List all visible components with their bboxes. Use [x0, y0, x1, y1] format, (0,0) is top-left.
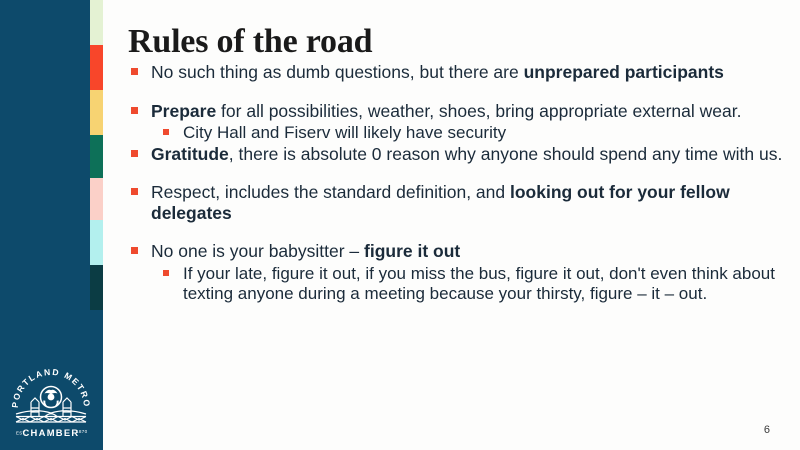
- bullet-text: Respect, includes the standard definitio…: [151, 182, 785, 223]
- bullet-plain: No such thing as dumb questions, but the…: [151, 62, 524, 82]
- color-strip-segment-orange-red: [90, 45, 103, 90]
- sub-bullet-item: City Hall and Fiserv will likely have se…: [125, 123, 785, 144]
- bullet-item: No such thing as dumb questions, but the…: [125, 62, 785, 83]
- bullet-square-icon: [163, 129, 169, 135]
- bullet-square-icon: [131, 107, 138, 114]
- color-strip-segment-yellow: [90, 90, 103, 135]
- slide-canvas: PORTLAND METRO: [0, 0, 800, 450]
- color-strip-segment-pink: [90, 178, 103, 220]
- color-strip-segment-dark-teal: [90, 265, 103, 310]
- bullet-text: No one is your babysitter – figure it ou…: [151, 241, 785, 262]
- logo-chamber-text: CHAMBER: [22, 427, 79, 438]
- sub-bullet-item: If your late, figure it out, if you miss…: [125, 264, 785, 305]
- page-number: 6: [764, 424, 770, 436]
- bullet-plain: for all possibilities, weather, shoes, b…: [216, 101, 741, 121]
- portland-metro-chamber-logo: PORTLAND METRO: [10, 350, 92, 442]
- bullet-item: Respect, includes the standard definitio…: [125, 182, 785, 223]
- page-title: Rules of the road: [128, 24, 372, 60]
- bullet-square-icon: [131, 68, 138, 75]
- bullet-item: No one is your babysitter – figure it ou…: [125, 241, 785, 262]
- bullet-text: Prepare for all possibilities, weather, …: [151, 101, 785, 122]
- bullet-text: Gratitude, there is absolute 0 reason wh…: [151, 144, 785, 165]
- color-strip-segment-teal-green: [90, 135, 103, 178]
- bullet-item: Gratitude, there is absolute 0 reason wh…: [125, 144, 785, 165]
- bullet-list: No such thing as dumb questions, but the…: [125, 62, 785, 305]
- bullet-text: No such thing as dumb questions, but the…: [151, 62, 785, 83]
- bullet-text: City Hall and Fiserv will likely have se…: [183, 123, 785, 144]
- bullet-plain: No one is your babysitter –: [151, 241, 364, 261]
- color-strip-segment-light-green: [90, 0, 103, 45]
- bullet-plain: Respect, includes the standard definitio…: [151, 182, 510, 202]
- bridge-icon: [16, 398, 86, 422]
- bullet-plain: City Hall and Fiserv will likely have se…: [183, 123, 506, 142]
- bullet-square-icon: [131, 247, 138, 254]
- logo-est-label: EST.: [16, 431, 26, 436]
- bullet-plain: If your late, figure it out, if you miss…: [183, 264, 775, 304]
- color-strip-segment-light-cyan: [90, 220, 103, 265]
- slide-content: Rules of the road No such thing as dumb …: [103, 0, 800, 450]
- svg-text:PORTLAND METRO: PORTLAND METRO: [10, 367, 92, 409]
- logo-est-year: 1870: [76, 429, 88, 434]
- bullet-emphasis: Gratitude: [151, 144, 229, 164]
- bullet-emphasis: unprepared participants: [524, 62, 724, 82]
- bullet-square-icon: [163, 270, 169, 276]
- bullet-emphasis: figure it out: [364, 241, 460, 261]
- bullet-item: Prepare for all possibilities, weather, …: [125, 101, 785, 122]
- bullet-text: If your late, figure it out, if you miss…: [183, 264, 785, 305]
- bullet-square-icon: [131, 188, 138, 195]
- bullet-emphasis: Prepare: [151, 101, 216, 121]
- bullet-plain: , there is absolute 0 reason why anyone …: [229, 144, 783, 164]
- bullet-square-icon: [131, 150, 138, 157]
